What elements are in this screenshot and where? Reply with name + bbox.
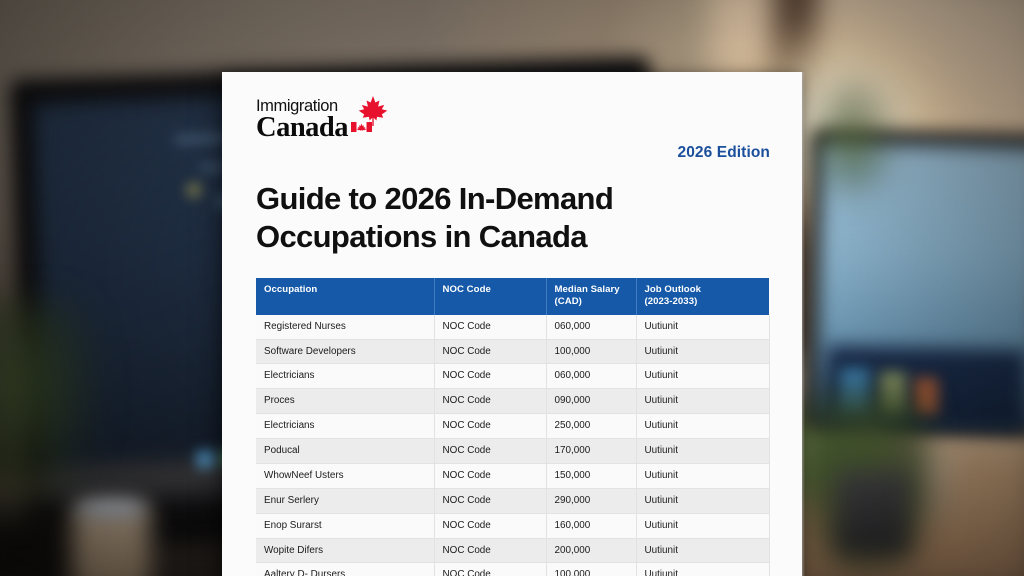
table-row[interactable]: PoducalNOC Code170,000Uutiunit <box>256 439 769 464</box>
median-salary-cell: 090,000 <box>546 389 636 414</box>
job-outlook-cell: Uutiunit <box>636 439 769 464</box>
occupation-cell: Enop Surarst <box>256 513 434 538</box>
occupation-cell: Aaltery D- Dursers <box>256 563 434 576</box>
job-outlook-cell: Uutiunit <box>636 538 769 563</box>
noc-code-cell: NOC Code <box>434 315 546 339</box>
median-salary-cell: 200,000 <box>546 538 636 563</box>
table-row[interactable]: Enop SurarstNOC Code160,000Uutiunit <box>256 513 769 538</box>
occupation-cell: Registered Nurses <box>256 315 434 339</box>
occupation-cell: Electricians <box>256 414 434 439</box>
median-salary-cell: 100,000 <box>546 339 636 364</box>
median-salary-cell: 100,000 <box>546 563 636 576</box>
occupation-cell: WhowNeef Usters <box>256 463 434 488</box>
occupations-table: Occupation NOC Code Median Salary(CAD) J… <box>256 278 770 576</box>
noc-code-cell: NOC Code <box>434 513 546 538</box>
noc-code-cell: NOC Code <box>434 488 546 513</box>
noc-code-cell: NOC Code <box>434 414 546 439</box>
table-row[interactable]: Wopite DifersNOC Code200,000Uutiunit <box>256 538 769 563</box>
table-header: Occupation NOC Code Median Salary(CAD) J… <box>256 278 769 314</box>
page-title: Guide to 2026 In-Demand Occupations in C… <box>256 180 696 256</box>
document-header: Immigration Canada 2026 Edition <box>256 98 770 162</box>
job-outlook-cell: Uutiunit <box>636 364 769 389</box>
table-row[interactable]: ElectriciansNOC Code060,000Uutiunit <box>256 364 769 389</box>
job-outlook-cell: Uutiunit <box>636 513 769 538</box>
table-row[interactable]: ProcesNOC Code090,000Uutiunit <box>256 389 769 414</box>
occupation-cell: Wopite Difers <box>256 538 434 563</box>
occupation-cell: Electricians <box>256 364 434 389</box>
noc-code-cell: NOC Code <box>434 463 546 488</box>
edition-badge: 2026 Edition <box>677 144 770 162</box>
median-salary-cell: 160,000 <box>546 513 636 538</box>
column-header-median-salary[interactable]: Median Salary(CAD) <box>546 278 636 314</box>
column-header-occupation[interactable]: Occupation <box>256 278 434 314</box>
noc-code-cell: NOC Code <box>434 538 546 563</box>
job-outlook-cell: Uutiunit <box>636 315 769 339</box>
occupation-cell: Poducal <box>256 439 434 464</box>
noc-code-cell: NOC Code <box>434 364 546 389</box>
table-row[interactable]: Software DevelopersNOC Code100,000Uutiun… <box>256 339 769 364</box>
table-row[interactable]: Registered NursesNOC Code060,000Uutiunit <box>256 315 769 339</box>
document-page: Immigration Canada 2026 Edition Guide to… <box>222 72 802 576</box>
column-header-job-outlook-label: Job Outlook(2023-2033) <box>645 284 702 307</box>
table-row[interactable]: WhowNeef UstersNOC Code150,000Uutiunit <box>256 463 769 488</box>
job-outlook-cell: Uutiunit <box>636 488 769 513</box>
median-salary-cell: 060,000 <box>546 364 636 389</box>
occupation-cell: Enur Serlery <box>256 488 434 513</box>
noc-code-cell: NOC Code <box>434 439 546 464</box>
immigration-canada-logo: Immigration Canada <box>256 98 381 142</box>
table-header-row: Occupation NOC Code Median Salary(CAD) J… <box>256 278 769 314</box>
column-header-noc-code[interactable]: NOC Code <box>434 278 546 314</box>
table-row[interactable]: Aaltery D- DursersNOC Code100,000Uutiuni… <box>256 563 769 576</box>
median-salary-cell: 290,000 <box>546 488 636 513</box>
job-outlook-cell: Uutiunit <box>636 414 769 439</box>
occupation-cell: Proces <box>256 389 434 414</box>
column-header-job-outlook[interactable]: Job Outlook(2023-2033) <box>636 278 769 314</box>
job-outlook-cell: Uutiunit <box>636 339 769 364</box>
job-outlook-cell: Uutiunit <box>636 463 769 488</box>
job-outlook-cell: Uutiunit <box>636 389 769 414</box>
job-outlook-cell: Uutiunit <box>636 563 769 576</box>
median-salary-cell: 150,000 <box>546 463 636 488</box>
median-salary-cell: 060,000 <box>546 315 636 339</box>
table-row[interactable]: ElectriciansNOC Code250,000Uutiunit <box>256 414 769 439</box>
median-salary-cell: 250,000 <box>546 414 636 439</box>
median-salary-cell: 170,000 <box>546 439 636 464</box>
table-row[interactable]: Enur SerleryNOC Code290,000Uutiunit <box>256 488 769 513</box>
column-header-median-salary-label: Median Salary(CAD) <box>555 284 620 307</box>
occupation-cell: Software Developers <box>256 339 434 364</box>
noc-code-cell: NOC Code <box>434 339 546 364</box>
table-body: Registered NursesNOC Code060,000Uutiunit… <box>256 315 769 576</box>
canada-flag-icon <box>351 122 372 132</box>
noc-code-cell: NOC Code <box>434 563 546 576</box>
noc-code-cell: NOC Code <box>434 389 546 414</box>
